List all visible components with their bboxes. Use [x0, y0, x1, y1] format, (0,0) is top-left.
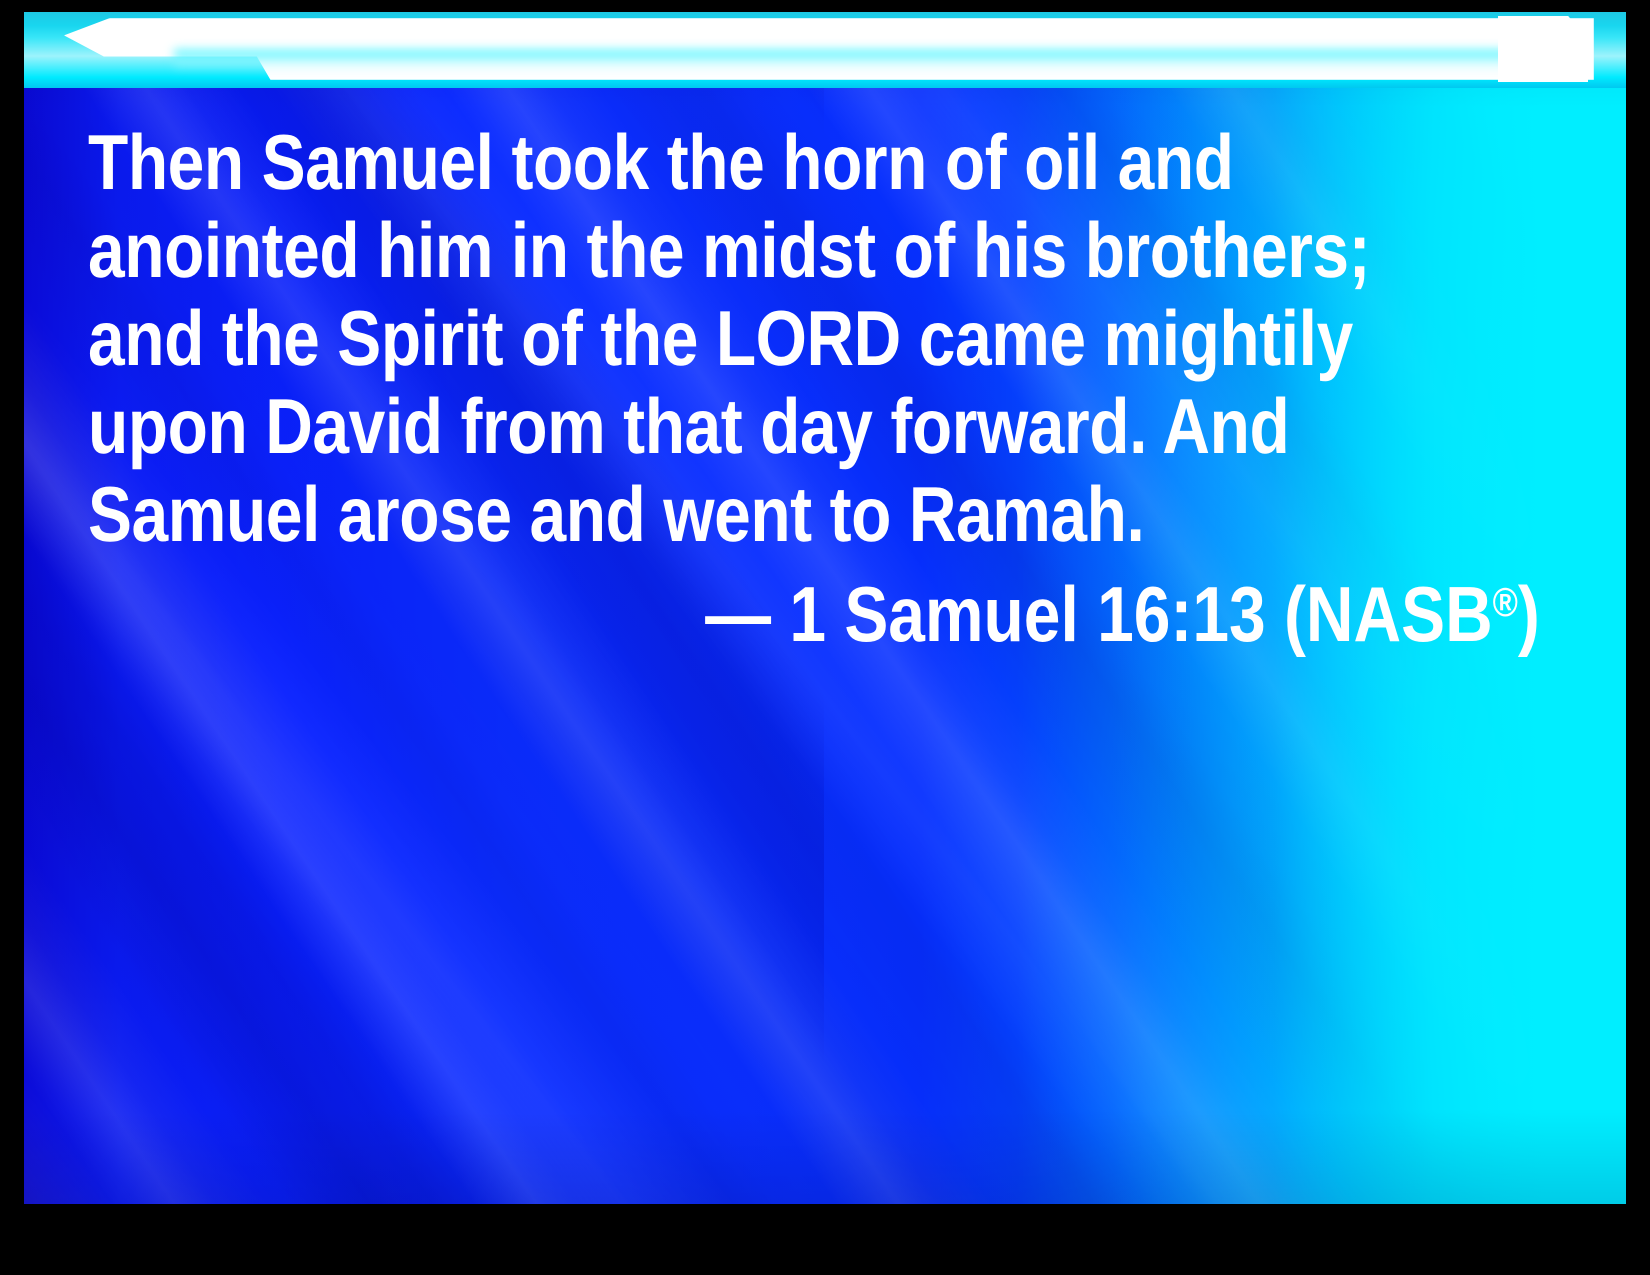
attribution-reference: 1 Samuel 16:13 [789, 570, 1265, 658]
verse-line: Samuel arose and went to Ramah. [88, 470, 1315, 558]
top-glow-inner-cyan-streak [174, 50, 1554, 72]
attribution-em-dash: — [705, 570, 771, 658]
verse-attribution-inner: — 1 Samuel 16:13 (NASB®) [705, 558, 1540, 658]
attribution-spacer-2 [1266, 570, 1284, 658]
verse-line: Then Samuel took the horn of oil and [88, 118, 1315, 206]
verse-line: and the Spirit of the LORD came mightily [88, 294, 1315, 382]
attribution-translation-open: (NASB [1284, 570, 1493, 658]
registered-trademark-icon: ® [1493, 579, 1518, 625]
attribution-translation-close: ) [1518, 570, 1540, 658]
attribution-spacer [771, 570, 789, 658]
verse-attribution: — 1 Samuel 16:13 (NASB®) [88, 558, 1540, 658]
verse-line: upon David from that day forward. And [88, 382, 1315, 470]
verse-slide: Then Samuel took the horn of oil and ano… [0, 0, 1650, 1275]
verse-line: anointed him in the midst of his brother… [88, 206, 1315, 294]
verse-text-block: Then Samuel took the horn of oil and ano… [88, 118, 1540, 558]
top-glow-white-right-cap [1498, 16, 1588, 82]
top-glow-bar [24, 12, 1626, 88]
